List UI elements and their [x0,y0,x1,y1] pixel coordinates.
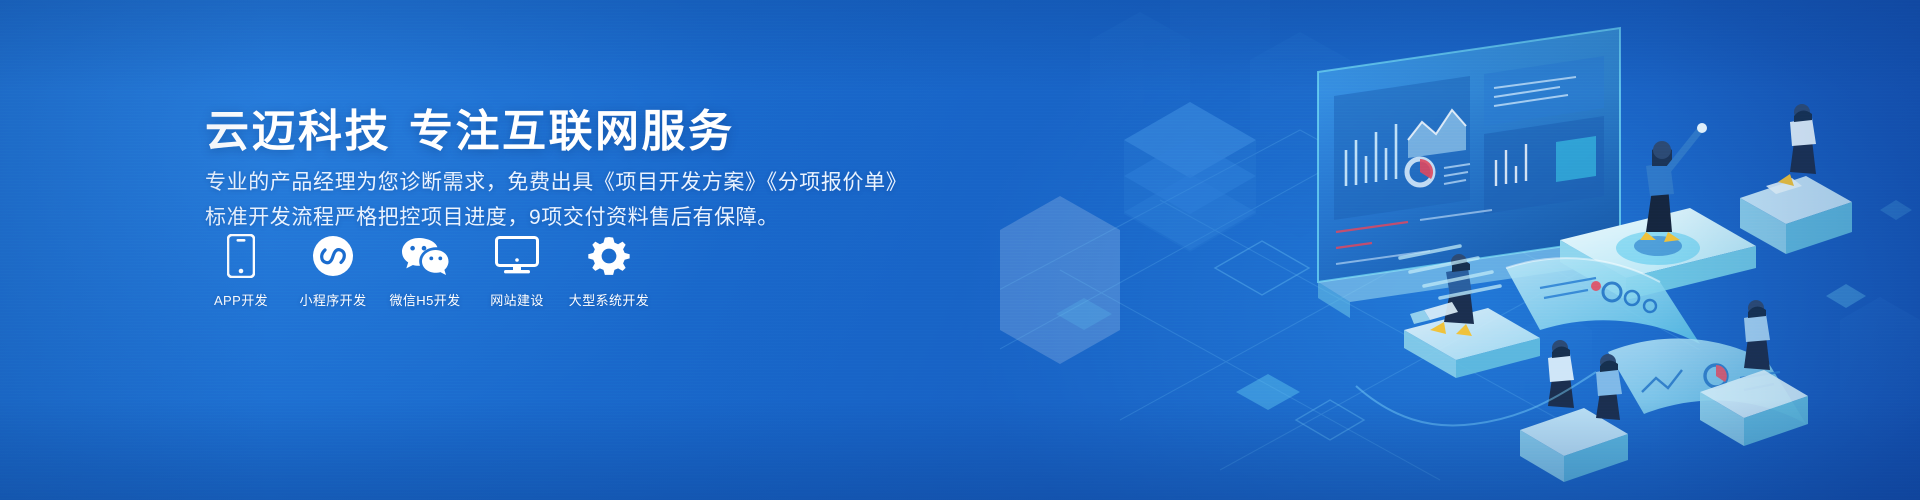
service-item-wechat[interactable]: 微信H5开发 [389,233,461,309]
hero-illustration [1000,0,1920,500]
service-label-system: 大型系统开发 [569,293,649,309]
hero-copy: 云迈科技专注互联网服务 专业的产品经理为您诊断需求，免费出具《项目开发方案》《分… [205,0,965,500]
service-label-miniprogram: 小程序开发 [299,293,366,309]
service-item-app[interactable]: APP开发 [205,233,277,309]
subtitle-line-1: 专业的产品经理为您诊断需求，免费出具《项目开发方案》《分项报价单》 [205,166,907,200]
headline-brand: 云迈科技 [205,107,391,156]
headline-tagline: 专注互联网服务 [409,107,735,156]
service-item-system[interactable]: 大型系统开发 [573,233,645,309]
mobile-phone-icon [227,233,255,279]
figure-cube [1778,104,1816,186]
service-icon-row: APP开发 小程序开发 [205,233,645,309]
service-label-app: APP开发 [214,293,268,309]
service-item-website[interactable]: 网站建设 [481,233,553,309]
mini-program-icon [312,233,354,279]
subtitle-line-2: 标准开发流程严格把控项目进度，9项交付资料售后有保障。 [205,201,779,235]
wechat-icon [401,233,449,279]
service-label-website: 网站建设 [490,293,544,309]
monitor-icon [495,233,539,279]
hero-banner: 云迈科技专注互联网服务 专业的产品经理为您诊断需求，免费出具《项目开发方案》《分… [0,0,1920,500]
service-label-wechat: 微信H5开发 [389,293,460,309]
gear-icon [588,233,630,279]
figure-right-lower [1744,300,1770,370]
page-title: 云迈科技专注互联网服务 [205,107,735,157]
service-item-miniprogram[interactable]: 小程序开发 [297,233,369,309]
